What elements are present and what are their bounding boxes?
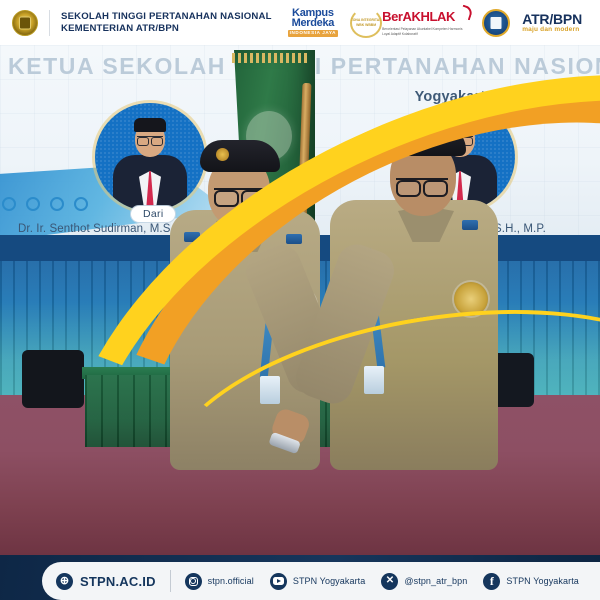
stage-chair-left xyxy=(22,350,84,408)
wreath-icon: ZONA INTEGRITAS WBK WBBM xyxy=(350,8,382,38)
atr-bpn-title: ATR/BPN xyxy=(522,12,582,26)
social-links-group: stpn.official STPN Yogyakarta ✕ @stpn_at… xyxy=(185,573,579,590)
portrait-from xyxy=(95,103,205,211)
beret-badge-icon xyxy=(216,148,229,161)
kampus-merdeka-logo: Kampus Merdeka INDONESIA JAYA xyxy=(288,8,338,37)
website-label: STPN.AC.ID xyxy=(80,574,156,589)
from-label-pill: Dari xyxy=(131,206,175,222)
facebook-glyph: f xyxy=(490,575,494,587)
stpn-emblem-icon xyxy=(12,10,38,36)
berakhlak-title: BerAKHLAK xyxy=(382,9,455,24)
berakhlak-logo: BerAKHLAK Berorientasi Pelayanan Akuntab… xyxy=(382,9,470,36)
youtube-icon xyxy=(270,573,287,590)
berakhlak-swoosh-icon xyxy=(459,5,473,21)
poster-root: SEKOLAH TINGGI PERTANAHAN NASIONAL KEMEN… xyxy=(0,0,600,600)
portrait-peci-cap-icon xyxy=(134,118,166,132)
facebook-page: STPN Yogyakarta xyxy=(506,576,579,586)
event-photograph: KETUA SEKOLAH TINGGI PERTANAHAN NASIONAL… xyxy=(0,45,600,555)
led-dot xyxy=(2,197,16,211)
instagram-handle: stpn.official xyxy=(208,576,254,586)
social-link-facebook[interactable]: f STPN Yogyakarta xyxy=(483,573,579,590)
led-dot xyxy=(26,197,40,211)
officer-rank-insignia xyxy=(462,220,478,230)
institution-title: SEKOLAH TINGGI PERTANAHAN NASIONAL KEMEN… xyxy=(61,11,272,33)
officer-black-beret-icon xyxy=(382,124,466,156)
led-dot xyxy=(74,197,88,211)
kampus-merdeka-line-2: Merdeka xyxy=(288,18,338,29)
social-link-instagram[interactable]: stpn.official xyxy=(185,573,254,590)
social-link-youtube[interactable]: STPN Yogyakarta xyxy=(270,573,366,590)
globe-glyph: ⊕ xyxy=(60,576,69,587)
officer-rank-insignia xyxy=(286,234,302,244)
institution-logo-group: SEKOLAH TINGGI PERTANAHAN NASIONAL KEMEN… xyxy=(12,10,272,36)
instagram-icon xyxy=(185,573,202,590)
youtube-channel: STPN Yogyakarta xyxy=(293,576,366,586)
officer-shoulder-patch-icon xyxy=(454,282,488,316)
instagram-glyph xyxy=(189,577,198,586)
beret-badge-icon xyxy=(398,132,411,145)
led-dots-decor xyxy=(2,197,88,211)
berakhlak-subtitle: Berorientasi Pelayanan Akuntabel Kompete… xyxy=(382,27,470,36)
footer-contact-pill: ⊕ STPN.AC.ID stpn.official STPN Yogyakar… xyxy=(42,562,600,600)
x-twitter-icon: ✕ xyxy=(381,573,398,590)
social-link-x-twitter[interactable]: ✕ @stpn_atr_bpn xyxy=(381,573,467,590)
header-right-group: BerAKHLAK Berorientasi Pelayanan Akuntab… xyxy=(382,9,588,37)
header-bar: SEKOLAH TINGGI PERTANAHAN NASIONAL KEMEN… xyxy=(0,0,600,45)
officer-glasses-icon xyxy=(214,188,266,201)
header-divider xyxy=(49,10,50,36)
flag-gold-fringe xyxy=(232,53,310,63)
globe-icon: ⊕ xyxy=(56,573,73,590)
atr-bpn-tagline: maju dan modern xyxy=(522,27,582,34)
portrait-glasses-icon xyxy=(137,136,163,143)
officer-glasses-icon xyxy=(396,178,448,191)
led-dot xyxy=(50,197,64,211)
footer-bar: ⊕ STPN.AC.ID stpn.official STPN Yogyakar… xyxy=(0,555,600,600)
officer-black-beret-icon xyxy=(200,140,280,172)
x-twitter-handle: @stpn_atr_bpn xyxy=(404,576,467,586)
atr-bpn-logo: ATR/BPN maju dan modern xyxy=(522,12,582,34)
officer-id-card xyxy=(364,366,384,394)
youtube-glyph xyxy=(273,577,284,585)
facebook-icon: f xyxy=(483,573,500,590)
x-twitter-glyph: ✕ xyxy=(386,576,394,586)
officer-rank-insignia xyxy=(184,232,200,242)
website-link[interactable]: ⊕ STPN.AC.ID xyxy=(56,573,156,590)
atr-bpn-emblem-icon xyxy=(482,9,510,37)
from-name: Dr. Ir. Senthot Sudirman, M.S. xyxy=(18,223,174,235)
institution-line-1: SEKOLAH TINGGI PERTANAHAN NASIONAL xyxy=(61,11,272,22)
officer-id-card xyxy=(260,376,280,404)
kampus-merdeka-tagline: INDONESIA JAYA xyxy=(288,30,338,37)
footer-separator xyxy=(170,570,171,592)
institution-line-2: KEMENTERIAN ATR/BPN xyxy=(61,23,272,34)
wreath-ring-icon xyxy=(350,8,382,38)
